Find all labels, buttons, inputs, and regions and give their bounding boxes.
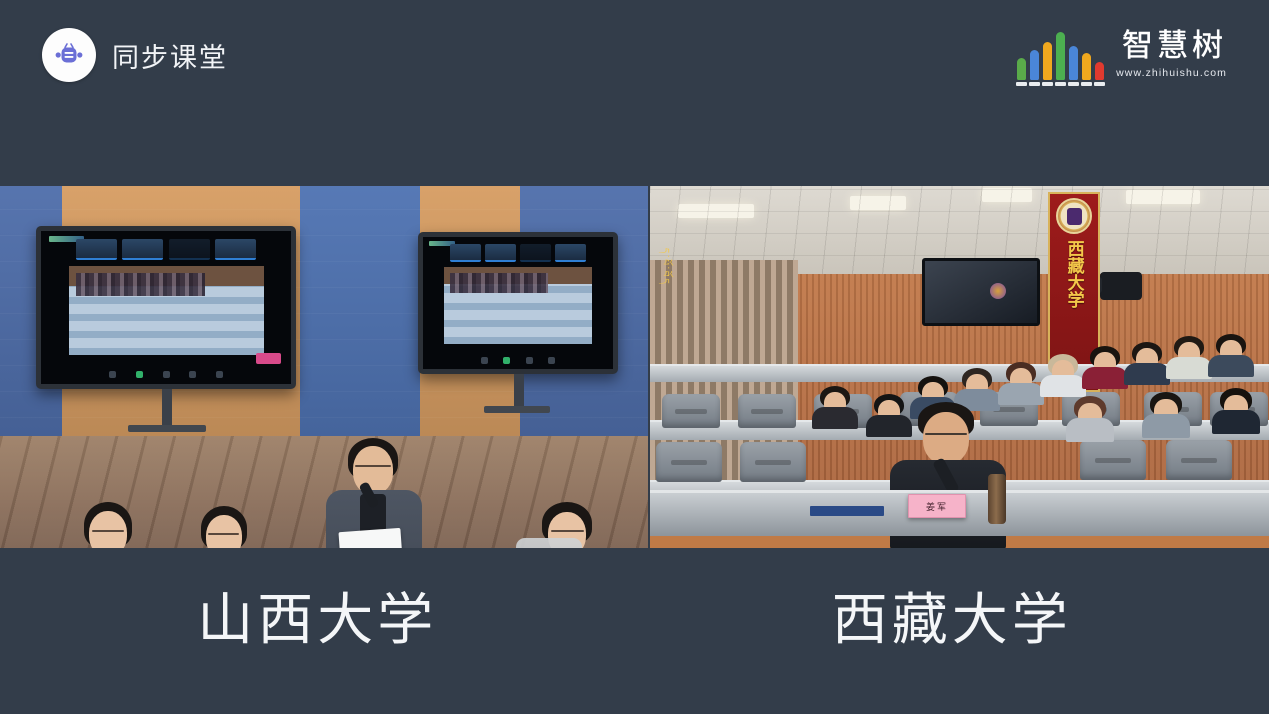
- standing-speaker: [322, 438, 426, 548]
- banner-tibetan-script: ད་པོ་བོད: [654, 248, 679, 286]
- robot-avatar-icon: [42, 28, 96, 82]
- wall-monitor: [922, 258, 1040, 326]
- brand-block: 同步课堂: [42, 28, 228, 82]
- seated-person-2: [182, 506, 270, 548]
- page-header: 同步课堂 智慧树 www.zhihuishu.com: [0, 0, 1269, 110]
- seated-person-1: [64, 502, 156, 548]
- photo-strip: 郭小英 王琦 费新春 高健 西藏大学: [0, 186, 1269, 548]
- student: [1048, 354, 1078, 390]
- interactive-display-right: [418, 232, 618, 374]
- student: [1006, 362, 1036, 398]
- logo-wordmark: 智慧树: [1122, 30, 1227, 63]
- student: [820, 386, 850, 422]
- university-emblem-icon: [1056, 198, 1092, 234]
- caption-left-wrap: 山西大学: [0, 560, 635, 670]
- student: [1220, 388, 1252, 426]
- caption-row: 山西大学 西藏大学: [0, 560, 1269, 670]
- student: [1074, 396, 1106, 434]
- caption-tibet-university: 西藏大学: [832, 575, 1072, 656]
- caption-shanxi-university: 山西大学: [197, 575, 437, 656]
- banner-title: 西藏大学: [1065, 240, 1082, 308]
- classroom-chair: [516, 538, 582, 548]
- thermos-cup: [988, 474, 1006, 524]
- zhihuishu-logo: 智慧树 www.zhihuishu.com: [1017, 30, 1227, 80]
- student: [962, 368, 992, 404]
- student: [1090, 346, 1120, 382]
- student: [1174, 336, 1204, 372]
- caption-right-wrap: 西藏大学: [635, 560, 1269, 670]
- ceiling-camera-icon: [1100, 272, 1142, 300]
- shanxi-university-classroom-photo: 郭小英 王琦 费新春 高健: [0, 186, 648, 548]
- student: [1216, 334, 1246, 370]
- brand-title: 同步课堂: [112, 36, 228, 75]
- speaker-name-placard: 姜军: [908, 494, 966, 518]
- logo-url: www.zhihuishu.com: [1116, 67, 1227, 79]
- logo-bars-icon: [1017, 32, 1104, 80]
- student: [1132, 342, 1162, 378]
- desk-paper: [810, 506, 884, 516]
- student: [1150, 392, 1182, 430]
- slide-root: 同步课堂 智慧树 www.zhihuishu.com: [0, 0, 1269, 714]
- interactive-display-left: [36, 226, 296, 389]
- tibet-university-lecture-hall-photo: 西藏大学 ད་པོ་བོད: [650, 186, 1269, 548]
